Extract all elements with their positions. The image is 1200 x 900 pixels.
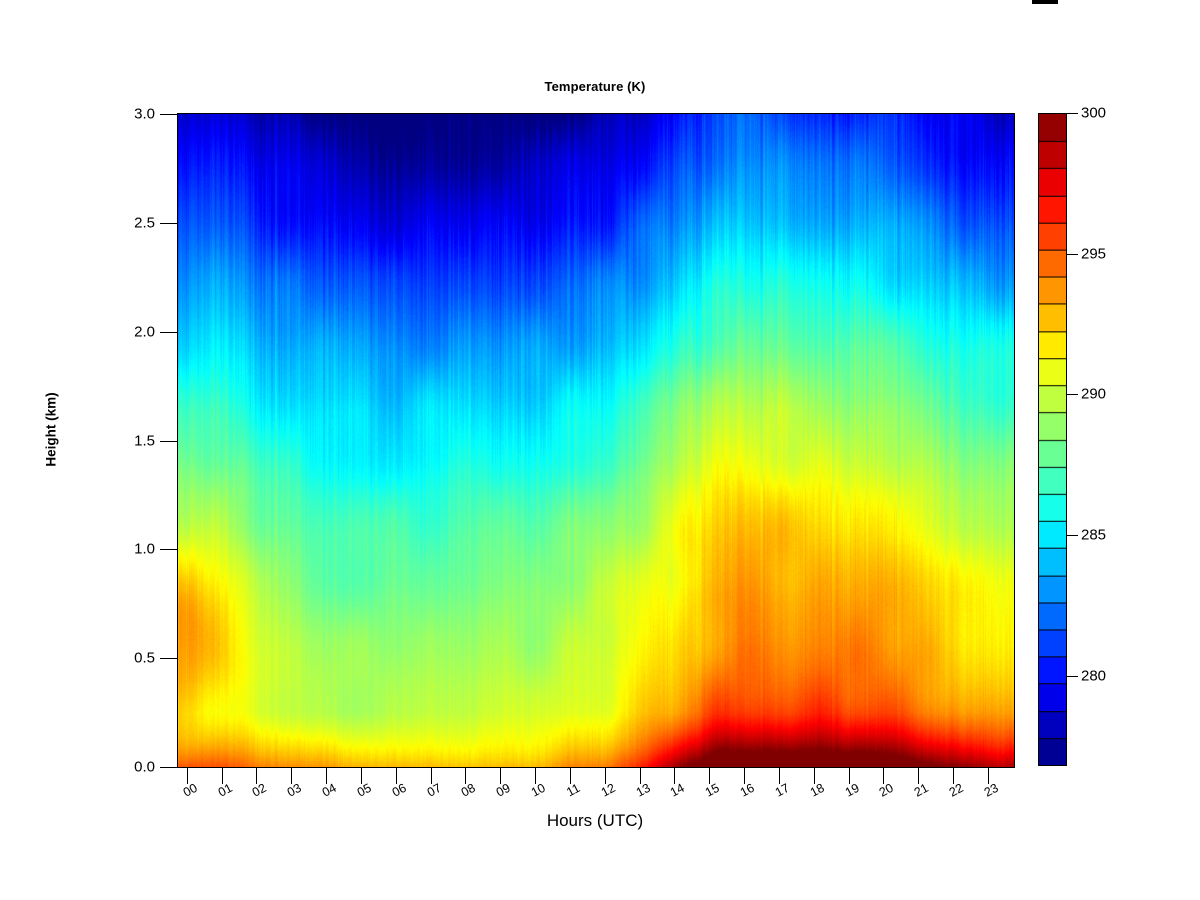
y-axis-title: Height (km) bbox=[44, 370, 59, 490]
x-axis-tick bbox=[465, 767, 466, 784]
x-axis-tick-label: 19 bbox=[842, 781, 861, 800]
x-axis-tick bbox=[744, 767, 745, 784]
x-axis-tick bbox=[326, 767, 327, 784]
colorbar-tick bbox=[1067, 535, 1078, 536]
x-axis-tick bbox=[883, 767, 884, 784]
y-axis-tick-label: 0.5 bbox=[134, 650, 155, 667]
x-axis-tick bbox=[222, 767, 223, 784]
y-axis-tick-label: 2.0 bbox=[134, 323, 155, 340]
colorbar-tick-label: 300 bbox=[1081, 105, 1106, 122]
x-axis-tick-label: 00 bbox=[181, 781, 200, 800]
x-axis-tick bbox=[187, 767, 188, 784]
y-axis-tick-label: 3.0 bbox=[134, 106, 155, 123]
x-axis-tick bbox=[640, 767, 641, 784]
x-axis-tick-label: 04 bbox=[320, 781, 339, 800]
x-axis-tick bbox=[256, 767, 257, 784]
x-axis-tick-label: 07 bbox=[424, 781, 443, 800]
x-axis-tick bbox=[918, 767, 919, 784]
y-axis-tick bbox=[160, 114, 177, 115]
x-axis-tick-labels: 0001020304050607080910111213141516171819… bbox=[177, 784, 1014, 814]
x-axis-tick-label: 13 bbox=[633, 781, 652, 800]
x-axis-tick bbox=[361, 767, 362, 784]
y-axis-tick-label: 1.5 bbox=[134, 432, 155, 449]
x-axis-tick bbox=[431, 767, 432, 784]
y-axis-tick-marks bbox=[160, 113, 177, 767]
x-axis-tick-label: 11 bbox=[564, 781, 582, 799]
colorbar-tick-label: 280 bbox=[1081, 667, 1106, 684]
heatmap-plot-area bbox=[177, 113, 1015, 768]
heatmap-image bbox=[178, 114, 1014, 767]
y-axis-tick bbox=[160, 441, 177, 442]
colorbar-tick bbox=[1067, 254, 1078, 255]
x-axis-tick bbox=[988, 767, 989, 784]
y-axis-tick bbox=[160, 767, 177, 768]
x-axis-tick bbox=[814, 767, 815, 784]
x-axis-tick-label: 03 bbox=[285, 781, 304, 800]
colorbar-tick bbox=[1067, 113, 1078, 114]
x-axis-tick-label: 20 bbox=[877, 781, 896, 800]
x-axis-tick-label: 17 bbox=[773, 781, 792, 800]
x-axis-tick bbox=[396, 767, 397, 784]
x-axis-tick-label: 16 bbox=[738, 781, 757, 800]
top-edge-artifact-mark bbox=[1032, 0, 1058, 4]
x-axis-tick-label: 01 bbox=[215, 781, 234, 800]
colorbar-tick-label: 285 bbox=[1081, 527, 1106, 544]
x-axis-tick bbox=[709, 767, 710, 784]
x-axis-tick-label: 15 bbox=[703, 781, 722, 800]
x-axis-tick bbox=[570, 767, 571, 784]
x-axis-tick bbox=[605, 767, 606, 784]
x-axis-title: Hours (UTC) bbox=[177, 811, 1013, 831]
y-axis-tick-label: 2.5 bbox=[134, 214, 155, 231]
x-axis-tick-label: 12 bbox=[599, 781, 618, 800]
x-axis-tick bbox=[291, 767, 292, 784]
colorbar-tick bbox=[1067, 676, 1078, 677]
colorbar-tick bbox=[1067, 394, 1078, 395]
x-axis-tick-label: 23 bbox=[982, 781, 1001, 800]
colorbar-tick-label: 290 bbox=[1081, 386, 1106, 403]
x-axis-tick-label: 22 bbox=[947, 781, 966, 800]
y-axis-tick-labels: 0.00.51.01.52.02.53.0 bbox=[95, 113, 155, 767]
y-axis-tick bbox=[160, 549, 177, 550]
x-axis-tick bbox=[535, 767, 536, 784]
x-axis-tick bbox=[779, 767, 780, 784]
x-axis-tick bbox=[674, 767, 675, 784]
x-axis-tick bbox=[849, 767, 850, 784]
colorbar bbox=[1038, 113, 1067, 766]
y-axis-tick bbox=[160, 658, 177, 659]
x-axis-tick bbox=[500, 767, 501, 784]
y-axis-tick-label: 0.0 bbox=[134, 759, 155, 776]
x-axis-tick-label: 18 bbox=[808, 781, 827, 800]
y-axis-tick bbox=[160, 332, 177, 333]
colorbar-gradient bbox=[1038, 113, 1067, 766]
y-axis-tick-label: 1.0 bbox=[134, 541, 155, 558]
x-axis-tick-label: 14 bbox=[668, 781, 687, 800]
x-axis-tick-label: 05 bbox=[355, 781, 374, 800]
x-axis-tick-label: 09 bbox=[494, 781, 513, 800]
x-axis-tick-label: 08 bbox=[459, 781, 478, 800]
chart-title: Temperature (K) bbox=[177, 79, 1013, 94]
figure-canvas: Temperature (K) 0.00.51.01.52.02.53.0 He… bbox=[0, 0, 1200, 900]
x-axis-tick-label: 21 bbox=[912, 781, 931, 800]
colorbar-tick-labels: 300295290285280 bbox=[1081, 113, 1141, 766]
x-axis-tick-label: 10 bbox=[529, 781, 548, 800]
x-axis-tick bbox=[953, 767, 954, 784]
colorbar-tick-marks bbox=[1067, 113, 1078, 766]
colorbar-tick-label: 295 bbox=[1081, 245, 1106, 262]
x-axis-tick-label: 06 bbox=[390, 781, 409, 800]
x-axis-tick-label: 02 bbox=[250, 781, 269, 800]
y-axis-tick bbox=[160, 223, 177, 224]
